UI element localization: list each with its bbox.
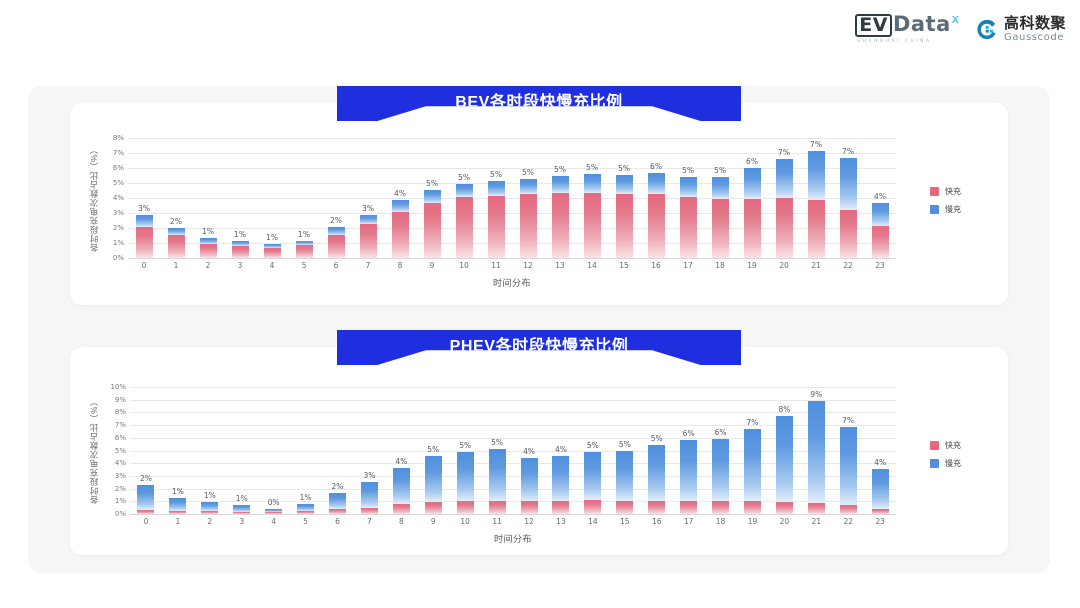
phev-y-tick: 7%	[115, 421, 126, 429]
bev-bar-group: 3%2%1%1%1%1%2%3%4%5%5%5%5%5%5%5%6%5%5%6%…	[128, 138, 896, 258]
bev-bar-value-label: 4%	[874, 192, 886, 201]
phev-bar-value-label: 0%	[268, 498, 280, 507]
phev-x-tick: 4	[258, 517, 290, 526]
evdata-subtitle: SHANGHAI CHINA	[855, 39, 931, 44]
phev-bar-value-label: 5%	[587, 441, 599, 450]
phev-bar-value-label: 1%	[172, 487, 184, 496]
evdata-logo: EV Data x SHANGHAI CHINA	[855, 14, 959, 44]
bev-slow-charge-segment	[520, 179, 537, 195]
gausscode-logo: 高科数聚 Gausscode	[975, 16, 1066, 43]
bev-bar-value-label: 1%	[298, 230, 310, 239]
bev-slow-charge-segment	[392, 200, 409, 211]
bev-y-axis-label: 各时段充电次数占比（%）	[88, 138, 100, 258]
bev-slow-charge-segment	[168, 228, 185, 235]
phev-slow-charge-segment	[137, 485, 154, 509]
phev-bar-value-label: 4%	[395, 457, 407, 466]
phev-y-tick: 9%	[115, 396, 126, 404]
bev-x-tick: 11	[480, 261, 512, 270]
phev-x-tick: 22	[832, 517, 864, 526]
bev-stacked-bar[interactable]	[168, 228, 185, 258]
bev-stacked-bar[interactable]	[392, 200, 409, 258]
phev-bar-cell[interactable]: 1%	[226, 387, 258, 514]
phev-stacked-bar[interactable]	[297, 504, 314, 514]
bev-x-tick: 19	[736, 261, 768, 270]
bev-bar-value-label: 2%	[170, 217, 182, 226]
bev-slow-charge-segment	[776, 159, 793, 198]
phev-y-tick: 0%	[115, 510, 126, 518]
phev-slow-charge-segment	[233, 505, 250, 512]
phev-slow-charge-segment	[329, 493, 346, 509]
bev-fast-charge-segment	[456, 197, 473, 258]
phev-bar-value-label: 4%	[874, 458, 886, 467]
phev-fast-charge-segment	[425, 502, 442, 514]
bev-bar-value-label: 1%	[234, 230, 246, 239]
phev-bar-cell[interactable]: 0%	[258, 387, 290, 514]
phev-slow-charge-segment	[457, 452, 474, 501]
bev-stacked-bar[interactable]	[648, 173, 665, 259]
phev-x-tick: 17	[673, 517, 705, 526]
bev-stacked-bar[interactable]	[520, 179, 537, 259]
phev-bar-cell[interactable]: 7%	[737, 387, 769, 514]
bev-stacked-bar[interactable]	[136, 215, 153, 259]
bev-slow-charge-segment	[808, 151, 825, 201]
bev-x-tick: 0	[128, 261, 160, 270]
phev-fast-charge-segment	[616, 501, 633, 514]
phev-fast-charge-segment	[808, 503, 825, 514]
evdata-x-icon: x	[952, 11, 959, 26]
phev-stacked-bar[interactable]	[233, 505, 250, 514]
bev-chart: 各时段充电次数占比（%）0%1%2%3%4%5%6%7%8%3%2%1%1%1%…	[28, 86, 1050, 322]
phev-x-tick: 16	[641, 517, 673, 526]
bev-fast-charge-segment	[136, 227, 153, 258]
bev-bar-cell[interactable]: 5%	[576, 138, 608, 258]
phev-chart-block: PHEV各时段快慢充比例 各时段充电次数占比（%）0%1%2%3%4%5%6%7…	[28, 330, 1050, 573]
bev-x-tick: 2	[192, 261, 224, 270]
phev-bar-cell[interactable]: 4%	[864, 387, 896, 514]
phev-bar-value-label: 6%	[715, 428, 727, 437]
phev-x-tick: 18	[705, 517, 737, 526]
bev-stacked-bar[interactable]	[616, 175, 633, 258]
bev-stacked-bar[interactable]	[264, 244, 281, 258]
bev-y-tick: 3%	[113, 209, 124, 217]
bev-bar-cell[interactable]: 5%	[544, 138, 576, 258]
evdata-data-text: Data	[893, 14, 951, 35]
phev-x-tick: 2	[194, 517, 226, 526]
bev-bar-cell[interactable]: 4%	[384, 138, 416, 258]
phev-fast-charge-segment	[680, 501, 697, 514]
bev-bar-cell[interactable]: 3%	[128, 138, 160, 258]
phev-slow-charge-segment	[489, 449, 506, 501]
bev-fast-charge-segment	[584, 193, 601, 258]
phev-x-tick: 14	[577, 517, 609, 526]
phev-fast-charge-segment	[137, 510, 154, 514]
phev-bar-value-label: 6%	[683, 429, 695, 438]
bev-stacked-bar[interactable]	[744, 168, 761, 258]
phev-bar-cell[interactable]: 8%	[768, 387, 800, 514]
bev-fast-charge-segment	[520, 194, 537, 258]
bev-y-tick: 7%	[113, 149, 124, 157]
bev-legend-label: 快充	[945, 186, 961, 197]
phev-fast-charge-segment	[744, 501, 761, 514]
bev-stacked-bar[interactable]	[200, 238, 217, 258]
phev-x-tick: 23	[864, 517, 896, 526]
bev-slow-charge-segment	[872, 203, 889, 226]
bev-bar-value-label: 3%	[362, 204, 374, 213]
phev-bar-cell[interactable]: 2%	[130, 387, 162, 514]
bev-stacked-bar[interactable]	[296, 241, 313, 258]
bev-bar-cell[interactable]: 6%	[640, 138, 672, 258]
bev-fast-charge-segment	[296, 245, 313, 258]
bev-bar-value-label: 5%	[490, 170, 502, 179]
phev-legend: 快充慢充	[930, 440, 961, 469]
phev-stacked-bar[interactable]	[712, 439, 729, 514]
phev-slow-charge-segment	[648, 445, 665, 500]
bev-y-tick: 1%	[113, 239, 124, 247]
phev-bar-cell[interactable]: 6%	[705, 387, 737, 514]
phev-stacked-bar[interactable]	[808, 401, 825, 514]
bev-slow-charge-segment	[744, 168, 761, 199]
bev-x-tick: 8	[384, 261, 416, 270]
phev-stacked-bar[interactable]	[137, 485, 154, 514]
phev-bar-cell[interactable]: 5%	[481, 387, 513, 514]
phev-stacked-bar[interactable]	[361, 482, 378, 514]
phev-bar-cell[interactable]: 5%	[577, 387, 609, 514]
bev-stacked-bar[interactable]	[328, 227, 345, 258]
phev-legend-item[interactable]: 快充	[930, 440, 961, 451]
bev-stacked-bar[interactable]	[712, 177, 729, 258]
bev-fast-charge-segment	[424, 203, 441, 259]
phev-stacked-bar[interactable]	[584, 452, 601, 514]
bev-y-tick: 0%	[113, 254, 124, 262]
phev-fast-charge-segment	[489, 501, 506, 514]
phev-bar-value-label: 3%	[363, 471, 375, 480]
phev-fast-charge-segment	[329, 509, 346, 514]
bev-slow-charge-segment	[488, 181, 505, 196]
bev-stacked-bar[interactable]	[808, 151, 825, 258]
bev-x-tick: 4	[256, 261, 288, 270]
bev-fast-charge-segment	[744, 199, 761, 258]
bev-bar-cell[interactable]: 7%	[800, 138, 832, 258]
phev-slow-charge-segment	[840, 427, 857, 505]
phev-slow-charge-segment	[393, 468, 410, 505]
bev-slow-charge-segment	[424, 190, 441, 203]
slide-page: EV Data x SHANGHAI CHINA 高科数聚 Gausscode	[0, 0, 1080, 608]
bev-y-tick: 8%	[113, 134, 124, 142]
phev-bar-value-label: 7%	[747, 418, 759, 427]
bev-slow-charge-segment	[360, 215, 377, 224]
phev-y-tick: 5%	[115, 447, 126, 455]
bev-x-tick: 13	[544, 261, 576, 270]
phev-bar-value-label: 5%	[427, 445, 439, 454]
phev-bar-cell[interactable]: 1%	[290, 387, 322, 514]
bev-bar-cell[interactable]: 5%	[416, 138, 448, 258]
phev-bar-value-label: 1%	[204, 491, 216, 500]
phev-x-tick: 13	[545, 517, 577, 526]
bev-bar-value-label: 4%	[394, 189, 406, 198]
phev-bar-cell[interactable]: 3%	[353, 387, 385, 514]
bev-bar-cell[interactable]: 5%	[672, 138, 704, 258]
gausscode-cn-name: 高科数聚	[1004, 16, 1066, 31]
phev-x-axis-ticks: 01234567891011121314151617181920212223	[130, 517, 896, 526]
bev-stacked-bar[interactable]	[488, 181, 505, 258]
phev-chart: 各时段充电次数占比（%）0%1%2%3%4%5%6%7%8%9%10%2%1%1…	[28, 330, 1050, 573]
bev-x-tick: 17	[672, 261, 704, 270]
gausscode-text: 高科数聚 Gausscode	[1004, 16, 1066, 43]
phev-bar-value-label: 4%	[523, 447, 535, 456]
phev-fast-charge-segment	[521, 501, 538, 514]
phev-bar-value-label: 5%	[491, 438, 503, 447]
bev-stacked-bar[interactable]	[872, 203, 889, 258]
phev-stacked-bar[interactable]	[265, 509, 282, 514]
phev-x-tick: 1	[162, 517, 194, 526]
phev-stacked-bar[interactable]	[201, 502, 218, 514]
phev-y-axis-label: 各时段充电次数占比（%）	[88, 387, 100, 514]
phev-bar-cell[interactable]: 1%	[162, 387, 194, 514]
phev-y-axis-ticks: 0%1%2%3%4%5%6%7%8%9%10%	[100, 387, 126, 514]
bev-slow-charge-segment	[648, 173, 665, 195]
bev-y-tick: 6%	[113, 164, 124, 172]
phev-bar-cell[interactable]: 5%	[417, 387, 449, 514]
bev-slow-charge-segment	[552, 176, 569, 193]
bev-y-tick: 5%	[113, 179, 124, 187]
phev-x-tick: 11	[481, 517, 513, 526]
phev-bar-value-label: 1%	[300, 493, 312, 502]
bev-x-tick: 15	[608, 261, 640, 270]
bev-bar-cell[interactable]: 2%	[320, 138, 352, 258]
bev-bar-cell[interactable]: 6%	[736, 138, 768, 258]
phev-fast-charge-segment	[840, 505, 857, 514]
phev-fast-charge-segment	[712, 501, 729, 514]
bev-bar-cell[interactable]: 5%	[512, 138, 544, 258]
bev-fast-charge-segment	[840, 210, 857, 258]
phev-bar-value-label: 2%	[332, 482, 344, 491]
phev-stacked-bar[interactable]	[776, 416, 793, 514]
bev-bar-cell[interactable]: 1%	[288, 138, 320, 258]
phev-bar-value-label: 5%	[459, 441, 471, 450]
phev-bar-cell[interactable]: 6%	[673, 387, 705, 514]
phev-stacked-bar[interactable]	[552, 456, 569, 514]
phev-x-tick: 0	[130, 517, 162, 526]
bev-slow-charge-segment	[136, 215, 153, 228]
phev-slow-charge-segment	[552, 456, 569, 500]
bev-bar-cell[interactable]: 1%	[224, 138, 256, 258]
bev-bar-cell[interactable]: 4%	[864, 138, 896, 258]
phev-stacked-bar[interactable]	[393, 468, 410, 514]
phev-stacked-bar[interactable]	[616, 451, 633, 515]
bev-legend-swatch	[930, 187, 939, 196]
phev-bar-group: 2%1%1%1%0%1%2%3%4%5%5%5%4%4%5%5%5%6%6%7%…	[130, 387, 896, 514]
bev-bar-cell[interactable]: 5%	[704, 138, 736, 258]
phev-x-tick: 9	[417, 517, 449, 526]
bev-stacked-bar[interactable]	[232, 241, 249, 258]
phev-legend-swatch	[930, 441, 939, 450]
bev-stacked-bar[interactable]	[584, 174, 601, 258]
phev-stacked-bar[interactable]	[680, 440, 697, 514]
phev-x-tick: 19	[737, 517, 769, 526]
bev-bar-cell[interactable]: 1%	[192, 138, 224, 258]
phev-fast-charge-segment	[648, 501, 665, 514]
bev-bar-cell[interactable]: 5%	[448, 138, 480, 258]
phev-x-tick: 8	[385, 517, 417, 526]
bev-stacked-bar[interactable]	[776, 159, 793, 258]
bev-fast-charge-segment	[232, 246, 249, 258]
content-panel: BEV各时段快慢充比例 各时段充电次数占比（%）0%1%2%3%4%5%6%7%…	[28, 86, 1050, 573]
phev-stacked-bar[interactable]	[648, 445, 665, 514]
phev-fast-charge-segment	[776, 502, 793, 514]
phev-fast-charge-segment	[552, 501, 569, 514]
bev-x-tick: 21	[800, 261, 832, 270]
phev-slow-charge-segment	[680, 440, 697, 500]
gausscode-en-name: Gausscode	[1004, 33, 1066, 43]
phev-y-tick: 1%	[115, 497, 126, 505]
logo-bar: EV Data x SHANGHAI CHINA 高科数聚 Gausscode	[855, 14, 1066, 44]
bev-fast-charge-segment	[648, 194, 665, 258]
bev-bar-cell[interactable]: 1%	[256, 138, 288, 258]
bev-legend-item[interactable]: 快充	[930, 186, 961, 197]
phev-fast-charge-segment	[457, 501, 474, 514]
phev-x-tick: 10	[449, 517, 481, 526]
phev-stacked-bar[interactable]	[872, 469, 889, 514]
bev-fast-charge-segment	[264, 248, 281, 259]
phev-stacked-bar[interactable]	[521, 458, 538, 514]
phev-legend-label: 慢充	[945, 458, 961, 469]
bev-stacked-bar[interactable]	[680, 177, 697, 258]
phev-bar-cell[interactable]: 4%	[513, 387, 545, 514]
bev-x-tick: 10	[448, 261, 480, 270]
bev-x-tick: 14	[576, 261, 608, 270]
phev-stacked-bar[interactable]	[489, 449, 506, 514]
bev-stacked-bar[interactable]	[552, 176, 569, 258]
phev-x-tick: 5	[290, 517, 322, 526]
bev-fast-charge-segment	[328, 235, 345, 258]
phev-x-tick: 6	[322, 517, 354, 526]
bev-fast-charge-segment	[200, 244, 217, 258]
phev-slow-charge-segment	[616, 451, 633, 501]
phev-x-tick: 20	[768, 517, 800, 526]
phev-stacked-bar[interactable]	[169, 498, 186, 515]
phev-bar-value-label: 4%	[555, 445, 567, 454]
bev-stacked-bar[interactable]	[456, 184, 473, 258]
phev-slow-charge-segment	[744, 429, 761, 501]
phev-legend-swatch	[930, 459, 939, 468]
bev-slow-charge-segment	[616, 175, 633, 195]
bev-bar-value-label: 7%	[810, 140, 822, 149]
phev-legend-label: 快充	[945, 440, 961, 451]
phev-bar-cell[interactable]: 5%	[609, 387, 641, 514]
bev-bar-cell[interactable]: 5%	[480, 138, 512, 258]
bev-slow-charge-segment	[680, 177, 697, 197]
phev-legend-item[interactable]: 慢充	[930, 458, 961, 469]
phev-bar-cell[interactable]: 4%	[545, 387, 577, 514]
phev-y-tick: 8%	[115, 408, 126, 416]
phev-stacked-bar[interactable]	[840, 427, 857, 514]
phev-fast-charge-segment	[361, 508, 378, 514]
phev-x-tick: 21	[800, 517, 832, 526]
bev-bar-cell[interactable]: 3%	[352, 138, 384, 258]
bev-bar-value-label: 2%	[330, 216, 342, 225]
bev-stacked-bar[interactable]	[424, 190, 441, 258]
bev-x-axis-label: 时间分布	[128, 276, 896, 289]
phev-stacked-bar[interactable]	[457, 452, 474, 514]
bev-legend-item[interactable]: 慢充	[930, 204, 961, 215]
bev-bar-value-label: 5%	[618, 164, 630, 173]
bev-fast-charge-segment	[680, 197, 697, 258]
phev-bar-cell[interactable]: 7%	[832, 387, 864, 514]
bev-x-tick: 5	[288, 261, 320, 270]
phev-fast-charge-segment	[233, 512, 250, 514]
bev-x-tick: 22	[832, 261, 864, 270]
phev-y-tick: 10%	[110, 383, 126, 391]
phev-slow-charge-segment	[808, 401, 825, 503]
bev-bar-value-label: 6%	[746, 157, 758, 166]
phev-bar-cell[interactable]: 5%	[641, 387, 673, 514]
bev-bar-value-label: 1%	[202, 227, 214, 236]
bev-fast-charge-segment	[712, 199, 729, 258]
phev-y-tick: 4%	[115, 459, 126, 467]
phev-bar-cell[interactable]: 2%	[322, 387, 354, 514]
bev-bar-cell[interactable]: 2%	[160, 138, 192, 258]
bev-fast-charge-segment	[168, 235, 185, 258]
bev-legend: 快充慢充	[930, 186, 961, 215]
phev-fast-charge-segment	[393, 504, 410, 514]
bev-fast-charge-segment	[872, 226, 889, 258]
bev-gridline	[128, 258, 896, 259]
bev-bar-cell[interactable]: 7%	[832, 138, 864, 258]
phev-stacked-bar[interactable]	[425, 456, 442, 514]
phev-slow-charge-segment	[521, 458, 538, 501]
phev-slow-charge-segment	[169, 498, 186, 511]
bev-x-tick: 1	[160, 261, 192, 270]
phev-y-tick: 3%	[115, 472, 126, 480]
bev-stacked-bar[interactable]	[840, 158, 857, 259]
phev-bar-value-label: 5%	[619, 440, 631, 449]
bev-slow-charge-segment	[328, 227, 345, 235]
bev-x-tick: 18	[704, 261, 736, 270]
bev-slow-charge-segment	[712, 177, 729, 199]
phev-bar-cell[interactable]: 9%	[800, 387, 832, 514]
bev-bar-value-label: 6%	[650, 162, 662, 171]
phev-stacked-bar[interactable]	[744, 429, 761, 514]
bev-slow-charge-segment	[840, 158, 857, 211]
bev-bar-value-label: 1%	[266, 233, 278, 242]
phev-slow-charge-segment	[201, 502, 218, 512]
bev-bar-value-label: 5%	[554, 165, 566, 174]
phev-stacked-bar[interactable]	[329, 493, 346, 514]
phev-plot-area: 2%1%1%1%0%1%2%3%4%5%5%5%4%4%5%5%5%6%6%7%…	[130, 387, 896, 514]
phev-bar-cell[interactable]: 5%	[449, 387, 481, 514]
bev-x-tick: 16	[640, 261, 672, 270]
evdata-wordmark: EV Data x	[855, 14, 959, 37]
phev-bar-cell[interactable]: 1%	[194, 387, 226, 514]
phev-y-tick: 6%	[115, 434, 126, 442]
phev-slow-charge-segment	[361, 482, 378, 507]
bev-bar-cell[interactable]: 5%	[608, 138, 640, 258]
phev-bar-value-label: 9%	[810, 390, 822, 399]
phev-slow-charge-segment	[776, 416, 793, 502]
bev-bar-cell[interactable]: 7%	[768, 138, 800, 258]
bev-x-tick: 12	[512, 261, 544, 270]
bev-fast-charge-segment	[552, 193, 569, 258]
phev-x-tick: 15	[609, 517, 641, 526]
bev-y-tick: 4%	[113, 194, 124, 202]
phev-bar-cell[interactable]: 4%	[385, 387, 417, 514]
bev-bar-value-label: 5%	[682, 166, 694, 175]
bev-legend-label: 慢充	[945, 204, 961, 215]
bev-x-tick: 6	[320, 261, 352, 270]
phev-fast-charge-segment	[169, 511, 186, 514]
bev-stacked-bar[interactable]	[360, 215, 377, 258]
bev-slow-charge-segment	[456, 184, 473, 198]
